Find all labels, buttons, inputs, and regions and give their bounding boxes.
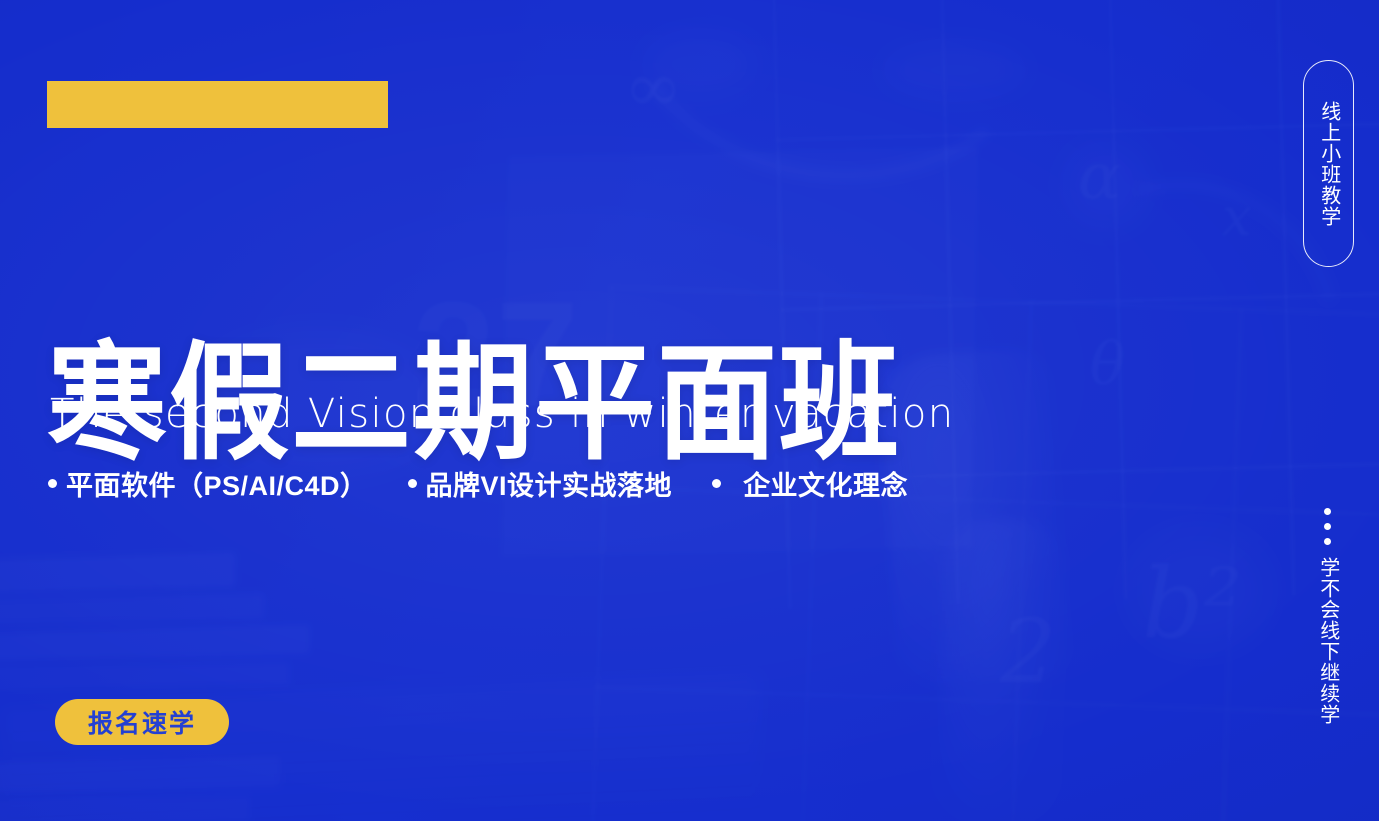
banner-content: 寒假二期平面班 The second Vision class in winte… bbox=[0, 0, 1379, 821]
accent-bar bbox=[47, 81, 388, 128]
guarantee-slogan: 学不会线下继续学 bbox=[1303, 508, 1352, 725]
online-class-badge-label: 线上小班教学 bbox=[1313, 101, 1343, 227]
feature-item-brand-vi: 品牌VI设计实战落地 bbox=[408, 464, 673, 503]
feature-label: 平面软件（PS/AI/C4D） bbox=[66, 464, 368, 503]
vertical-dots-icon bbox=[1324, 508, 1331, 545]
feature-item-software: 平面软件（PS/AI/C4D） bbox=[48, 464, 368, 503]
online-class-badge: 线上小班教学 bbox=[1303, 60, 1354, 267]
feature-list: 平面软件（PS/AI/C4D） 品牌VI设计实战落地 企业文化理念 bbox=[48, 464, 908, 503]
feature-item-culture: 企业文化理念 bbox=[712, 464, 908, 503]
course-banner: ∞ α b² x 2 27 θ 寒假二期平面班 The second Visio… bbox=[0, 0, 1379, 821]
enroll-button[interactable]: 报名速学 bbox=[55, 699, 229, 745]
bullet-dot-icon bbox=[48, 479, 57, 488]
page-subtitle: The second Vision class in winter vacati… bbox=[50, 392, 955, 436]
bullet-dot-icon bbox=[712, 479, 721, 488]
bullet-dot-icon bbox=[408, 479, 417, 488]
guarantee-slogan-label: 学不会线下继续学 bbox=[1312, 557, 1342, 725]
feature-label: 企业文化理念 bbox=[743, 464, 908, 503]
feature-label: 品牌VI设计实战落地 bbox=[426, 464, 673, 503]
